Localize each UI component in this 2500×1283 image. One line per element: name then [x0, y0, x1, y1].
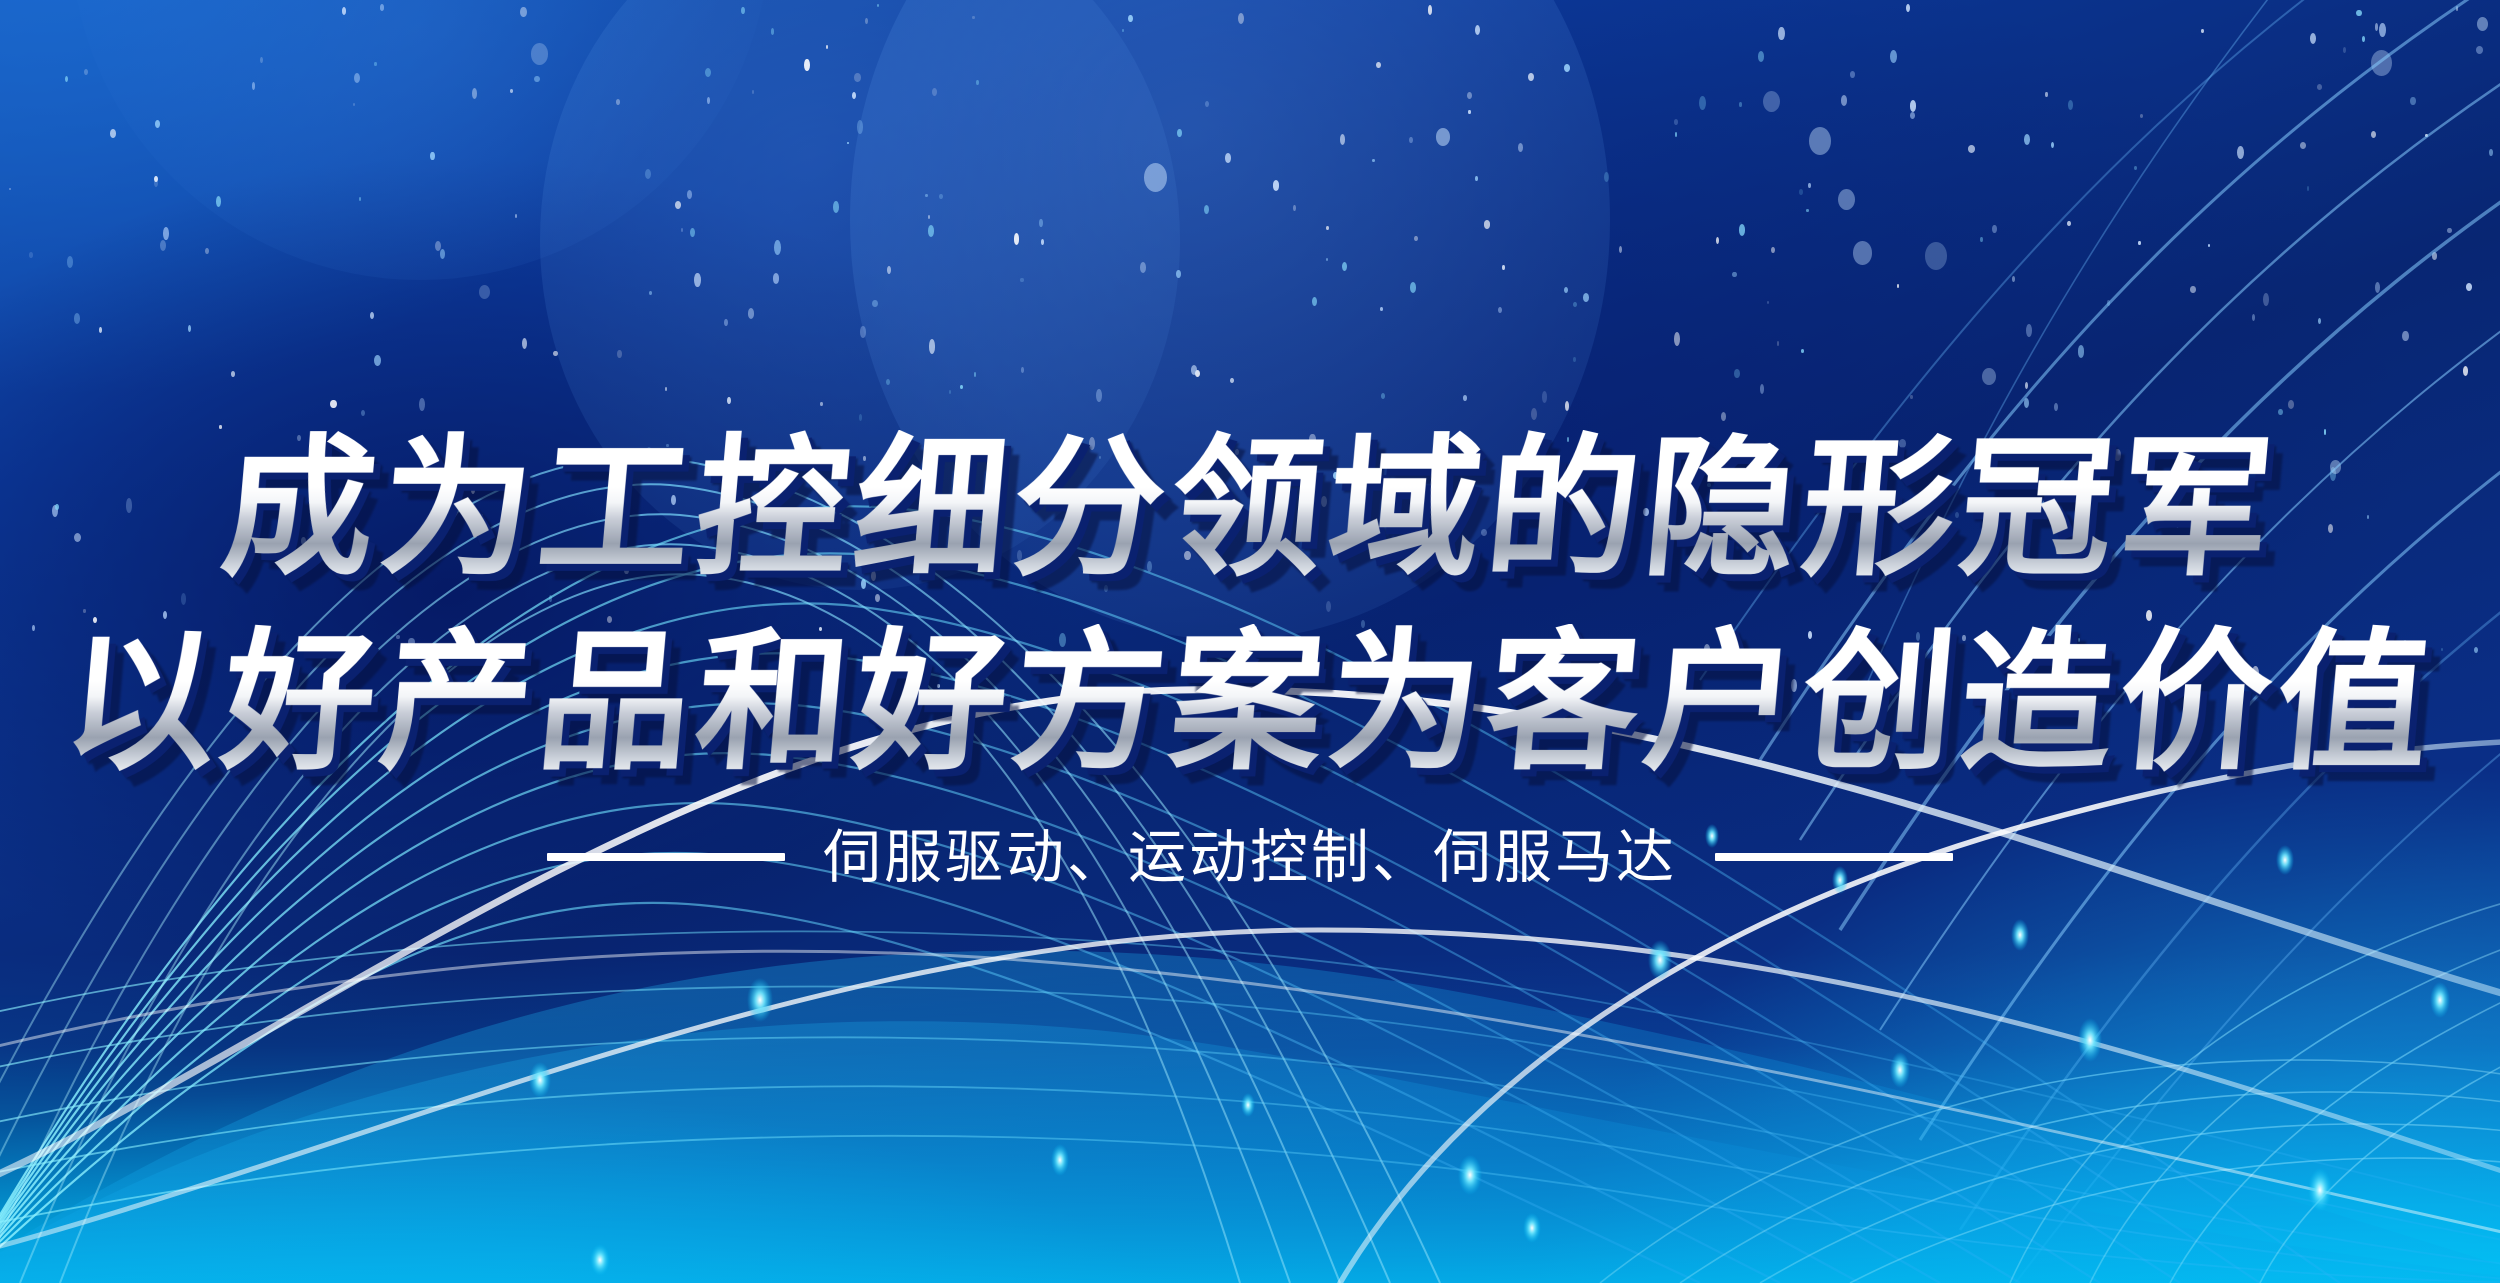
headline-line-1: 成为工控细分领域的隐形冠军 [0, 430, 2500, 588]
subtitle-block: 伺服驱动、运动控制、伺服马达 [0, 825, 2500, 889]
subtitle-left-rule [547, 853, 785, 861]
headline-line-2: 以好产品和好方案为客户创造价值 [0, 624, 2500, 782]
hero-banner: 成为工控细分领域的隐形冠军 以好产品和好方案为客户创造价值 伺服驱动、运动控制、… [0, 0, 2500, 1283]
subtitle-right-rule [1715, 853, 1953, 861]
subtitle-text: 伺服驱动、运动控制、伺服马达 [823, 825, 1677, 889]
headline-block: 成为工控细分领域的隐形冠军 以好产品和好方案为客户创造价值 [0, 430, 2500, 782]
